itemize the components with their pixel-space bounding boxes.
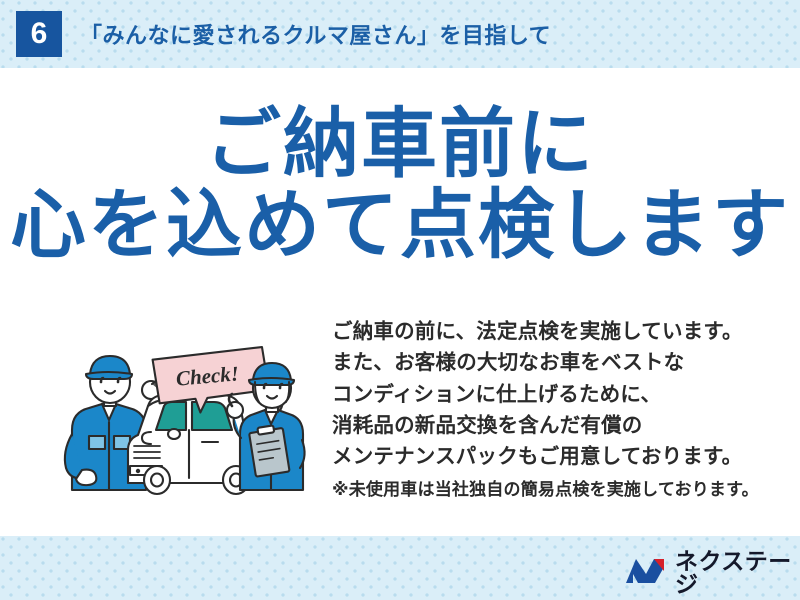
body-line-5: メンテナンスパックもご用意しております。 [332, 441, 772, 472]
body-line-4: 消耗品の新品交換を含んだ有償の [332, 410, 772, 441]
step-number-badge: 6 [16, 11, 62, 57]
header: 6 「みんなに愛されるクルマ屋さん」を目指して [0, 0, 800, 68]
headline-line-2: 心を込めて点検します [0, 185, 800, 266]
body-line-3: コンディションに仕上げるために、 [332, 379, 772, 410]
headline-line-1: ご納車前に [0, 104, 800, 185]
headline: ご納車前に 心を込めて点検します [0, 104, 800, 267]
header-title: 「みんなに愛されるクルマ屋さん」を目指して [80, 18, 551, 50]
illustration-svg: Check! [56, 338, 318, 500]
promotional-slide: 6 「みんなに愛されるクルマ屋さん」を目指して ご納車前に 心を込めて点検します [0, 0, 800, 600]
body-line-1: ご納車の前に、法定点検を実施しています。 [332, 316, 772, 347]
brand-logo: ネクステージ [624, 550, 800, 596]
mechanics-inspection-illustration: Check! [56, 338, 318, 500]
brand-name: ネクステージ [675, 550, 800, 596]
body-footnote: ※未使用車は当社独自の簡易点検を実施しております。 [332, 477, 772, 503]
body-copy: ご納車の前に、法定点検を実施しています。 また、お客様の大切なお車をベストな コ… [332, 316, 772, 503]
nextage-n-mark-icon [624, 557, 666, 590]
body-line-2: また、お客様の大切なお車をベストな [332, 347, 772, 378]
